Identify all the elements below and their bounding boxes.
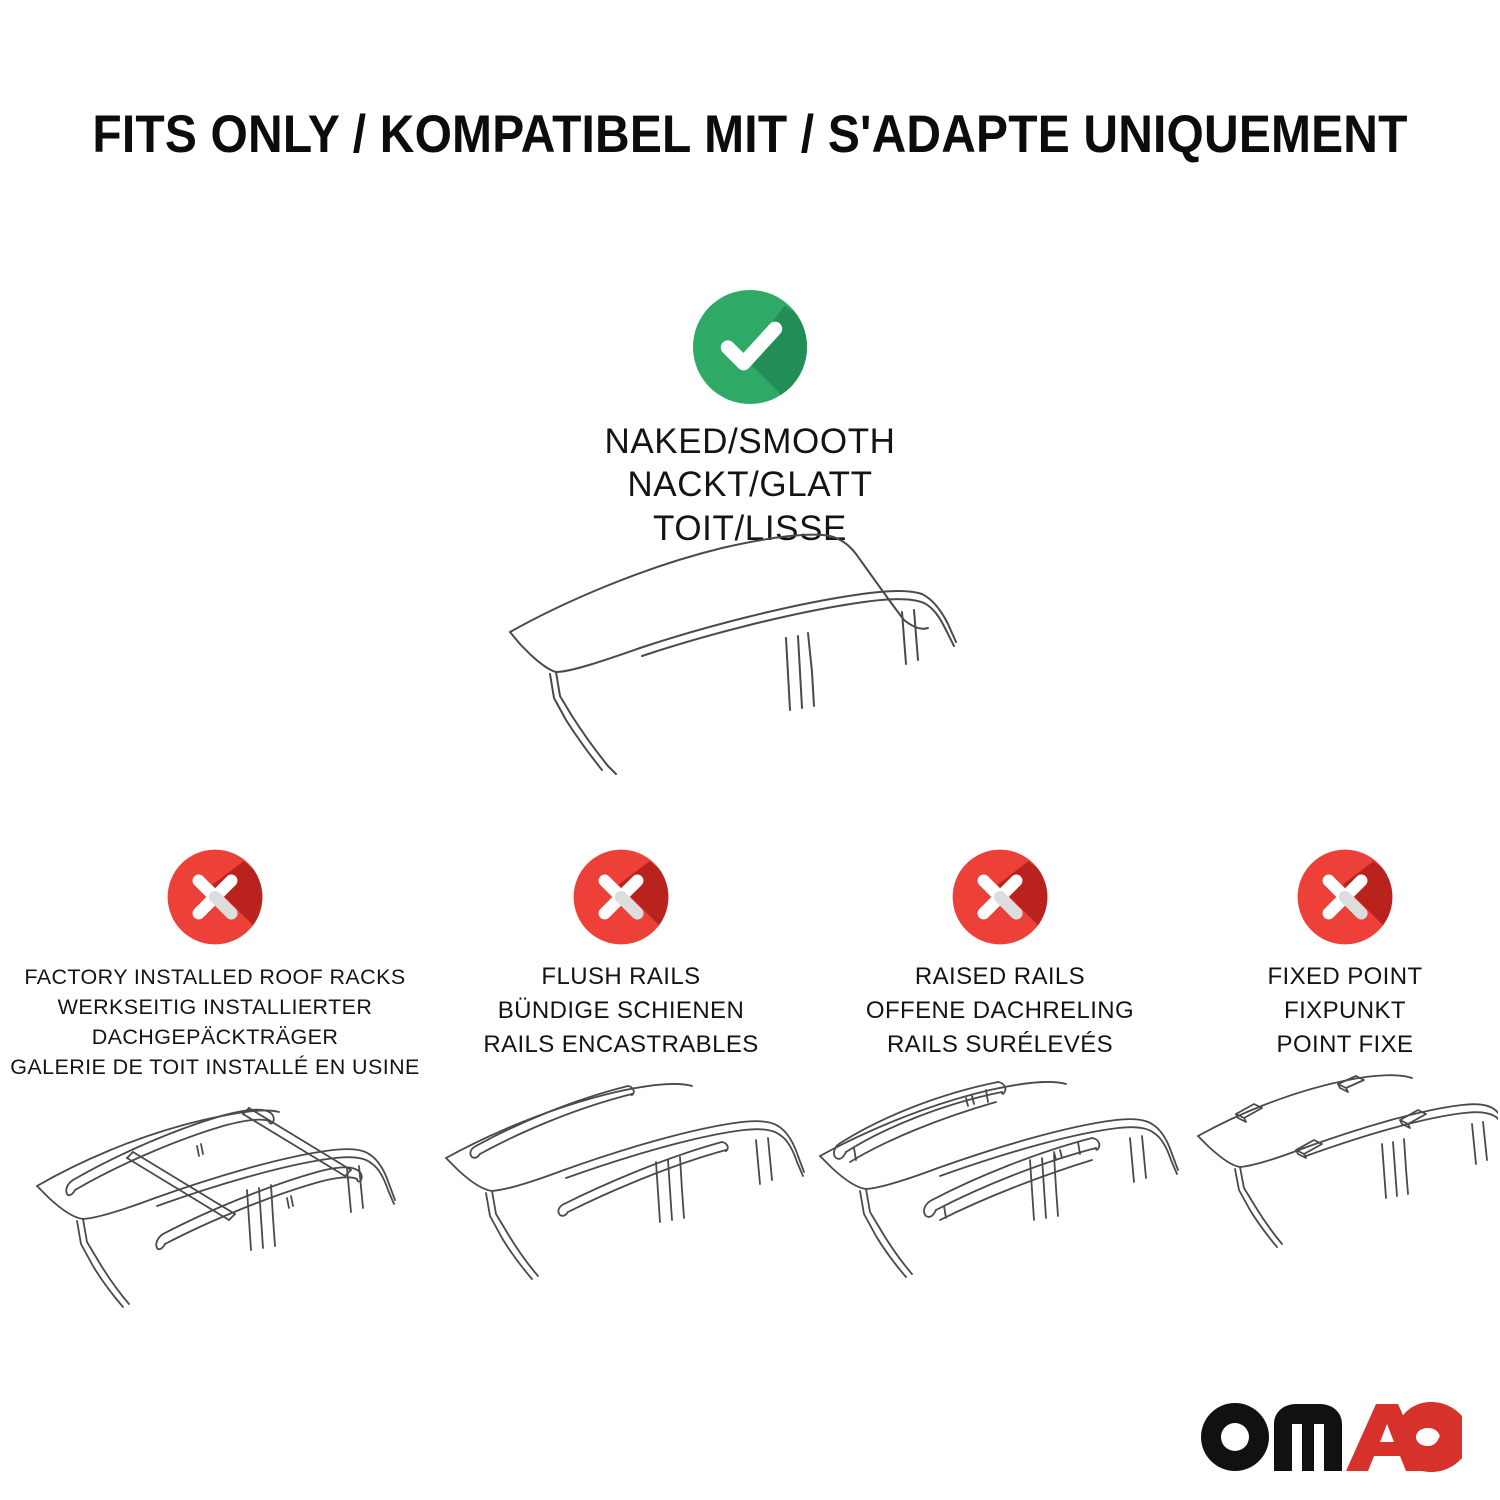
rejected-caption: FACTORY INSTALLED ROOF RACKS WERKSEITIG … (10, 962, 419, 1082)
x-circle-icon (1296, 848, 1394, 946)
rejected-fitment-row: FACTORY INSTALLED ROOF RACKS WERKSEITIG … (0, 848, 1500, 1309)
rejected-item-raised-rails: RAISED RAILS OFFENE DACHRELING RAILS SUR… (810, 848, 1190, 1289)
rejected-caption-line-1: FIXED POINT (1267, 960, 1422, 994)
car-roof-with-raised-rails-drawing (810, 1074, 1190, 1289)
omac-logo (1200, 1398, 1462, 1476)
rejected-caption-line-1: RAISED RAILS (866, 960, 1134, 994)
rejected-caption: FLUSH RAILS BÜNDIGE SCHIENEN RAILS ENCAS… (483, 960, 758, 1062)
rejected-caption-line-2: BÜNDIGE SCHIENEN (483, 994, 758, 1028)
x-circle-icon (166, 848, 264, 946)
x-circle-icon (572, 848, 670, 946)
rejected-caption-line-3: RAILS ENCASTRABLES (483, 1028, 758, 1062)
bare-smooth-car-roof-drawing (490, 520, 1010, 785)
car-roof-with-fixed-points-drawing (1192, 1074, 1498, 1289)
rejected-caption-line-2: OFFENE DACHRELING (866, 994, 1134, 1028)
check-circle-icon (691, 288, 809, 406)
rejected-caption: FIXED POINT FIXPUNKT POINT FIXE (1267, 960, 1422, 1062)
rejected-caption-line-3: POINT FIXE (1267, 1028, 1422, 1062)
page-title: FITS ONLY / KOMPATIBEL MIT / S'ADAPTE UN… (71, 104, 1429, 165)
rejected-caption: RAISED RAILS OFFENE DACHRELING RAILS SUR… (866, 960, 1134, 1062)
rejected-item-flush-rails: FLUSH RAILS BÜNDIGE SCHIENEN RAILS ENCAS… (432, 848, 810, 1289)
rejected-caption-line-2: FIXPUNKT (1267, 994, 1422, 1028)
rejected-caption-line-1: FLUSH RAILS (483, 960, 758, 994)
approved-fitment-block: NAKED/SMOOTH NACKT/GLATT TOIT/LISSE (0, 288, 1500, 550)
fitment-guide-page: FITS ONLY / KOMPATIBEL MIT / S'ADAPTE UN… (0, 0, 1500, 1500)
rejected-item-fixed-point: FIXED POINT FIXPUNKT POINT FIXE (1192, 848, 1498, 1289)
x-circle-icon (951, 848, 1049, 946)
rejected-caption-line-1: FACTORY INSTALLED ROOF RACKS (10, 962, 419, 992)
car-roof-with-flush-rails-drawing (432, 1074, 810, 1289)
rejected-caption-line-4: GALERIE DE TOIT INSTALLÉ EN USINE (10, 1052, 419, 1082)
approved-caption-line-de: NACKT/GLATT (604, 463, 895, 506)
rejected-caption-line-3: RAILS SURÉLEVÉS (866, 1028, 1134, 1062)
car-roof-with-factory-rack-and-crossbars-drawing (15, 1094, 415, 1309)
rejected-item-factory-roof-racks: FACTORY INSTALLED ROOF RACKS WERKSEITIG … (0, 848, 430, 1309)
rejected-caption-line-2: WERKSEITIG INSTALLIERTER (10, 992, 419, 1022)
approved-caption-line-en: NAKED/SMOOTH (604, 420, 895, 463)
rejected-caption-line-3: DACHGEPÄCKTRÄGER (10, 1022, 419, 1052)
